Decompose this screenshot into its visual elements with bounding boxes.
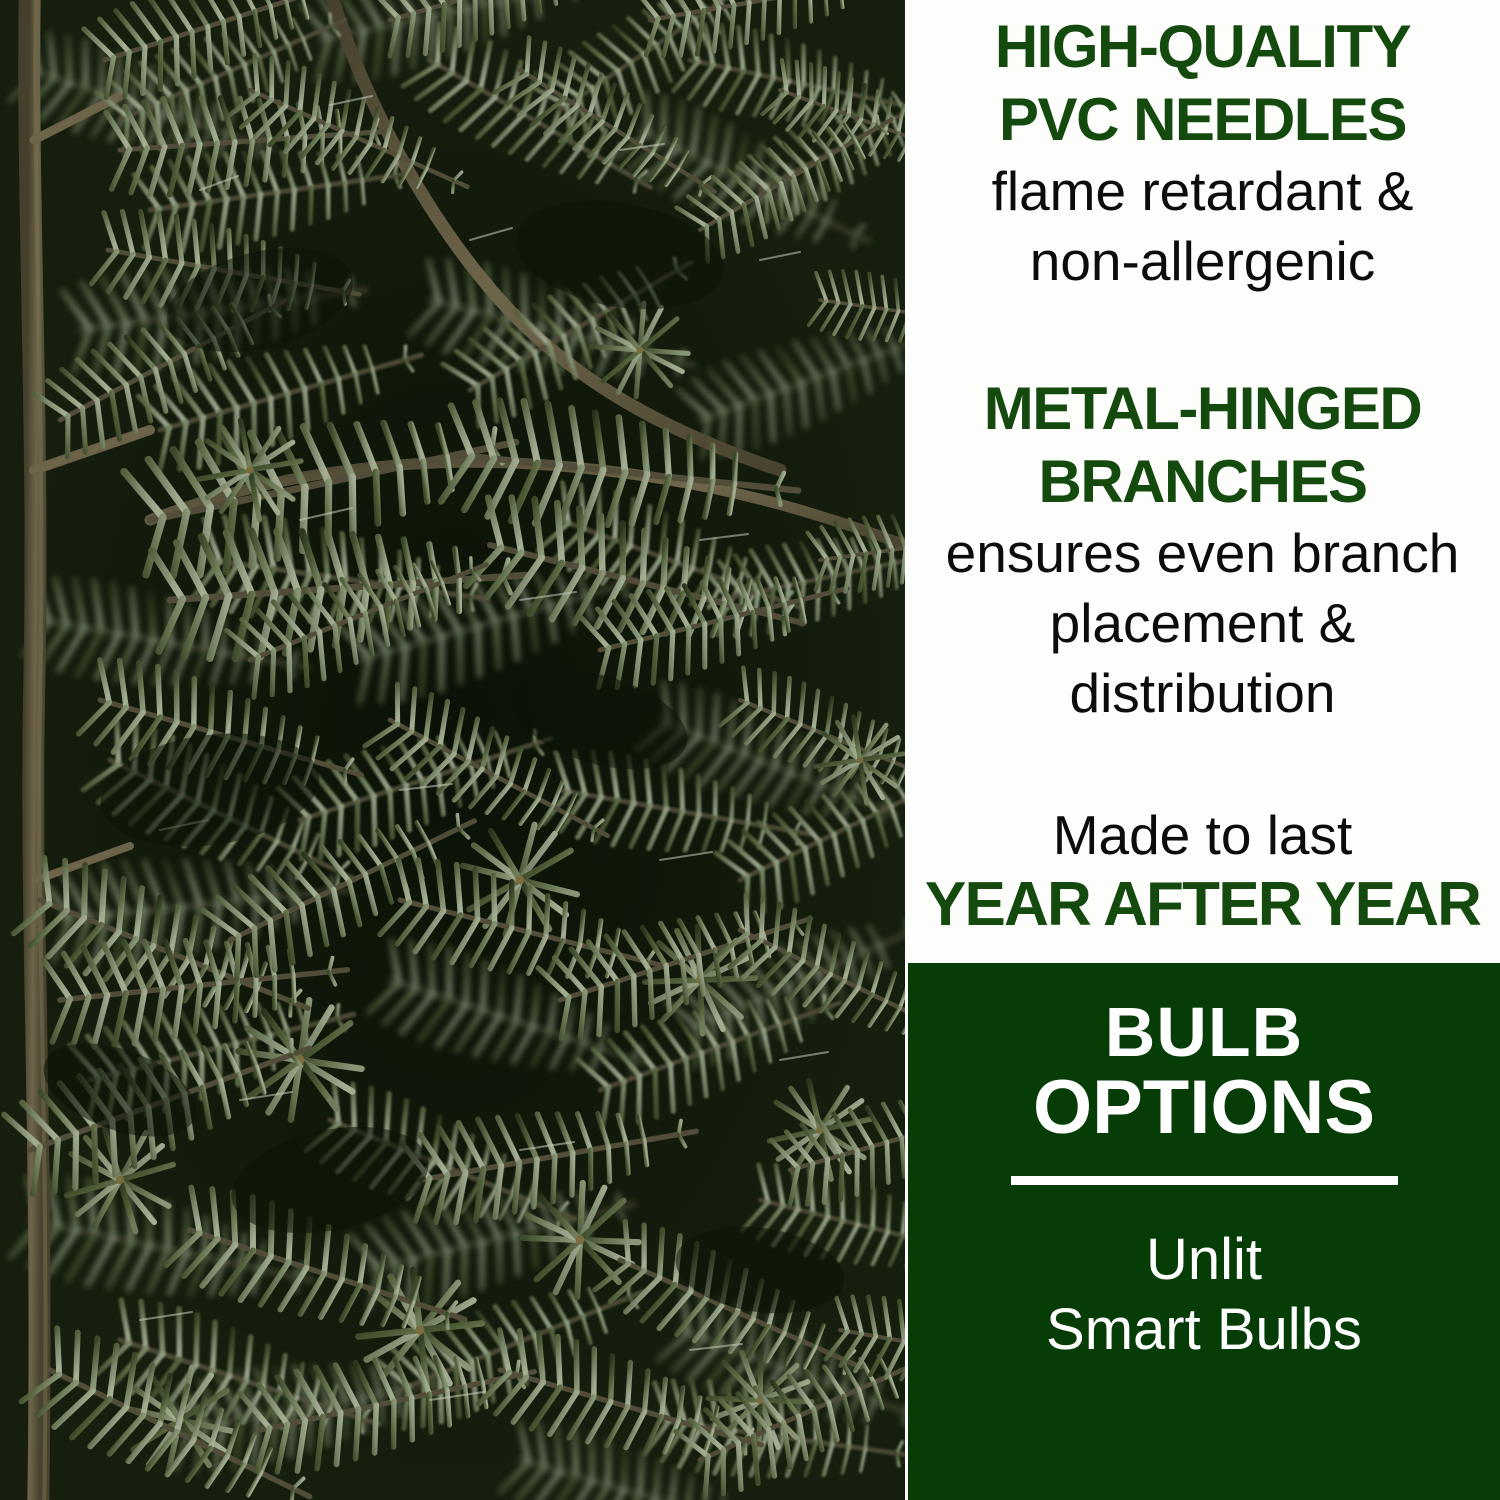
durability-intro: Made to last	[913, 802, 1492, 868]
bulb-options-list: Unlit Smart Bulbs	[908, 1225, 1500, 1365]
feature-body-line-2: non-allergenic	[913, 226, 1492, 296]
durability-block: Made to last YEAR AFTER YEAR	[905, 802, 1500, 942]
feature-heading-line-1: HIGH-QUALITY	[913, 10, 1492, 83]
bulb-options-title-line-2: OPTIONS	[908, 1068, 1500, 1148]
bulb-options-divider	[1011, 1176, 1398, 1185]
bulb-options-panel: BULB OPTIONS Unlit Smart Bulbs	[908, 963, 1500, 1500]
feature-block-metal-hinged-branches: METAL-HINGED BRANCHES ensures even branc…	[905, 372, 1500, 728]
feature-heading-line-1: METAL-HINGED	[913, 372, 1492, 445]
feature-body-line-1: ensures even branch	[913, 518, 1492, 588]
durability-emphasis: YEAR AFTER YEAR	[913, 868, 1492, 942]
feature-block-pvc-needles: HIGH-QUALITY PVC NEEDLES flame retardant…	[905, 10, 1500, 296]
bulb-options-title-line-1: BULB	[908, 963, 1500, 1068]
product-feature-infographic: HIGH-QUALITY PVC NEEDLES flame retardant…	[0, 0, 1500, 1500]
feature-text-pane: HIGH-QUALITY PVC NEEDLES flame retardant…	[905, 0, 1500, 1500]
bulb-option-item: Unlit	[908, 1225, 1500, 1295]
product-photo-christmas-tree-branches	[0, 0, 905, 1500]
feature-body-line-2: placement &	[913, 588, 1492, 658]
feature-heading-line-2: PVC NEEDLES	[913, 83, 1492, 156]
tree-branch-illustration	[0, 0, 905, 1500]
feature-body-line-1: flame retardant &	[913, 156, 1492, 226]
feature-heading-line-2: BRANCHES	[913, 445, 1492, 518]
feature-body-line-3: distribution	[913, 658, 1492, 728]
bulb-option-item: Smart Bulbs	[908, 1295, 1500, 1365]
